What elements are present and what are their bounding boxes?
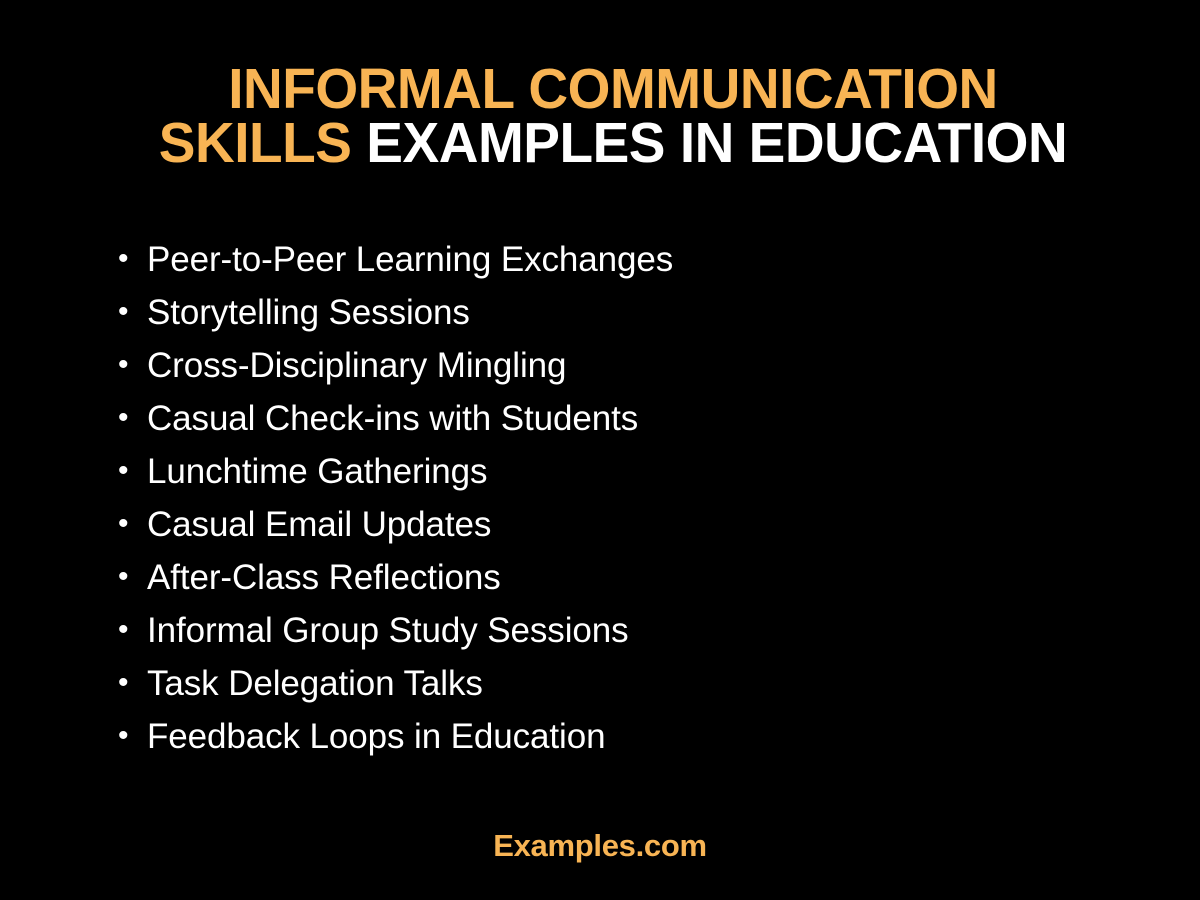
list-item: • Peer-to-Peer Learning Exchanges: [118, 238, 1138, 291]
bullet-icon: •: [118, 610, 147, 650]
list-item: • Feedback Loops in Education: [118, 715, 1138, 768]
list-item: • Cross-Disciplinary Mingling: [118, 344, 1138, 397]
bullet-icon: •: [118, 292, 147, 332]
list-item-label: Peer-to-Peer Learning Exchanges: [147, 238, 1138, 282]
list-item-label: After-Class Reflections: [147, 556, 1138, 600]
list-item-label: Feedback Loops in Education: [147, 715, 1138, 759]
title-line-1: INFORMAL COMMUNICATION: [47, 62, 1180, 116]
bullet-icon: •: [118, 663, 147, 703]
list-item-label: Casual Email Updates: [147, 503, 1138, 547]
bullet-icon: •: [118, 504, 147, 544]
bullet-icon: •: [118, 557, 147, 597]
examples-list: • Peer-to-Peer Learning Exchanges • Stor…: [118, 238, 1138, 768]
list-item-label: Cross-Disciplinary Mingling: [147, 344, 1138, 388]
title-line-2-white-text: EXAMPLES IN EDUCATION: [366, 111, 1067, 175]
bullet-icon: •: [118, 345, 147, 385]
slide-canvas: INFORMAL COMMUNICATION SKILLS EXAMPLES I…: [0, 0, 1200, 900]
bullet-icon: •: [118, 239, 147, 279]
title-line-2-amber-text: SKILLS: [159, 111, 366, 175]
bullet-icon: •: [118, 716, 147, 756]
list-item: • After-Class Reflections: [118, 556, 1138, 609]
list-item-label: Storytelling Sessions: [147, 291, 1138, 335]
list-item: • Informal Group Study Sessions: [118, 609, 1138, 662]
list-item-label: Lunchtime Gatherings: [147, 450, 1138, 494]
footer: Examples.com: [0, 826, 1200, 866]
title-line-2: SKILLS EXAMPLES IN EDUCATION: [47, 116, 1180, 170]
list-item: • Lunchtime Gatherings: [118, 450, 1138, 503]
list-item: • Task Delegation Talks: [118, 662, 1138, 715]
list-item: • Casual Check-ins with Students: [118, 397, 1138, 450]
list-item: • Storytelling Sessions: [118, 291, 1138, 344]
page-title: INFORMAL COMMUNICATION SKILLS EXAMPLES I…: [0, 62, 1200, 170]
list-item-label: Informal Group Study Sessions: [147, 609, 1138, 653]
bullet-icon: •: [118, 398, 147, 438]
list-item-label: Casual Check-ins with Students: [147, 397, 1138, 441]
bullet-icon: •: [118, 451, 147, 491]
list-item: • Casual Email Updates: [118, 503, 1138, 556]
list-item-label: Task Delegation Talks: [147, 662, 1138, 706]
brand-wordmark: Examples.com: [493, 828, 707, 863]
